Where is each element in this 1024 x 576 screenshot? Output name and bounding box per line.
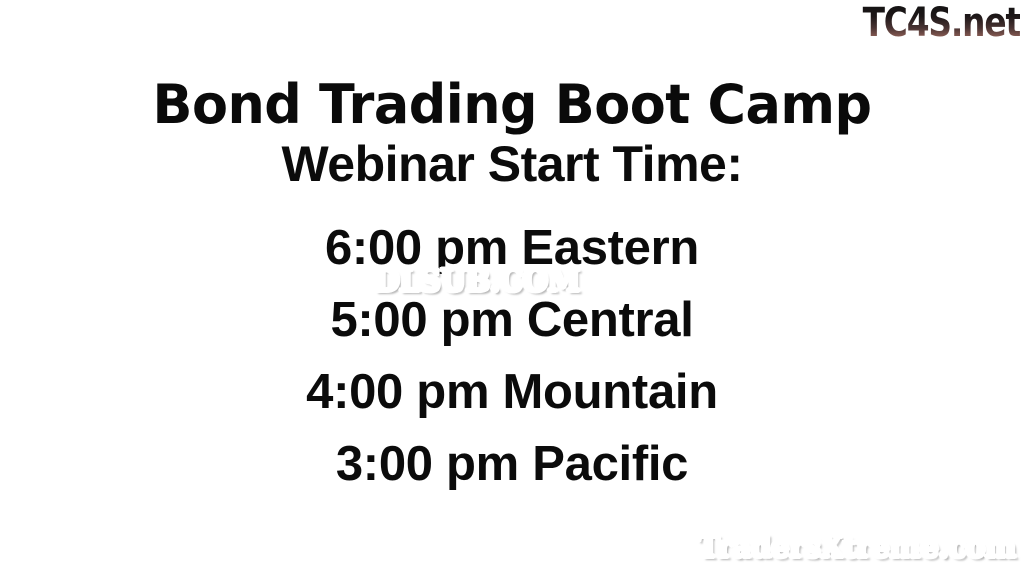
- slide-canvas: TC4S.net Bond Trading Boot Camp Webinar …: [0, 0, 1024, 576]
- page-title: Bond Trading Boot Camp: [15, 74, 1008, 136]
- tc4s-logo: TC4S.net: [863, 2, 1020, 44]
- timezone-list: 6:00 pm Eastern 5:00 pm Central 4:00 pm …: [0, 212, 1024, 500]
- subtitle-webinar-start-time: Webinar Start Time:: [0, 132, 1024, 196]
- dlsub-watermark-text: DLSUB.COM: [374, 263, 580, 299]
- tradersxtreme-logo-text: TradersXtreme.com: [698, 530, 1016, 565]
- tradersxtreme-logo: TradersXtreme.com: [698, 530, 1016, 566]
- dlsub-watermark: DLSUB.COM: [374, 264, 580, 298]
- list-item: 3:00 pm Pacific: [0, 428, 1024, 500]
- slide-body: Webinar Start Time: 6:00 pm Eastern 5:00…: [0, 132, 1024, 500]
- tc4s-logo-text: TC4S.net: [863, 0, 1020, 46]
- list-item: 4:00 pm Mountain: [0, 356, 1024, 428]
